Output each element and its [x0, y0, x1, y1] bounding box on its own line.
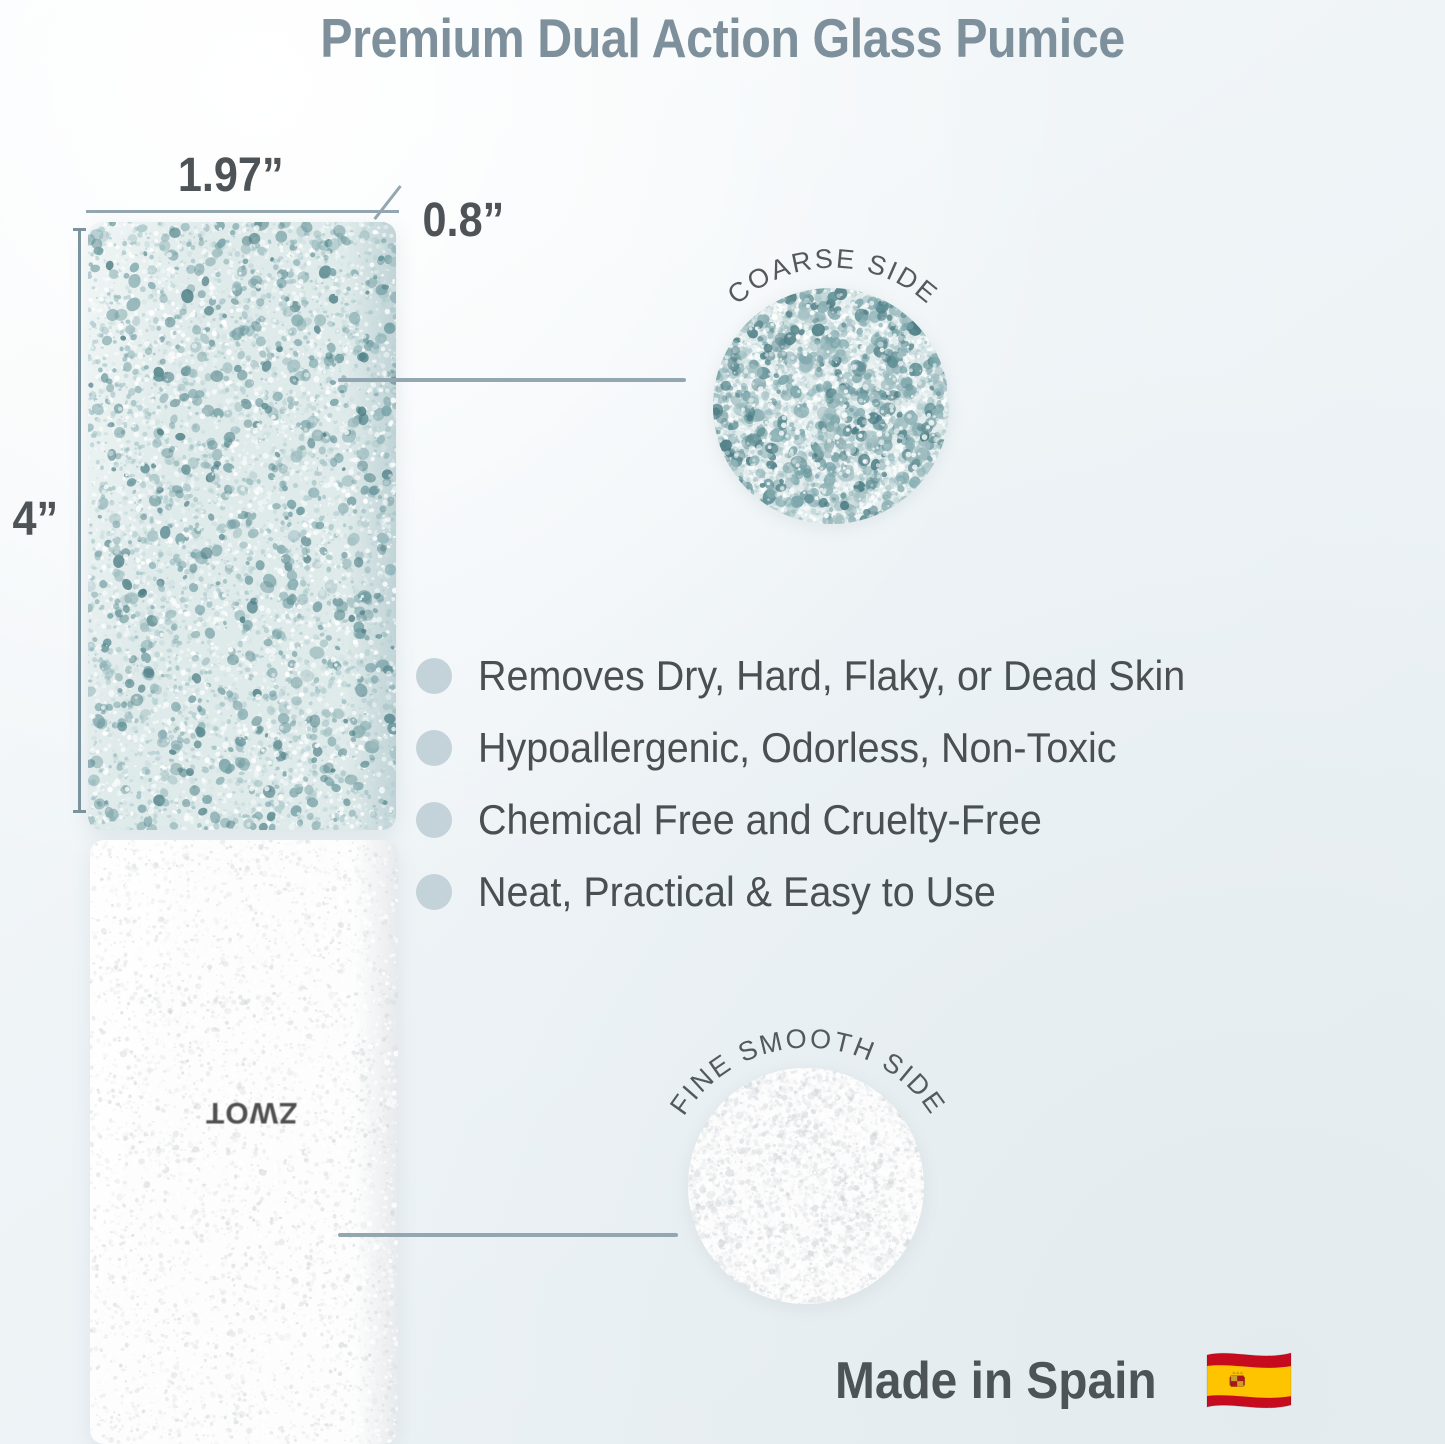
list-item: Neat, Practical & Easy to Use — [416, 856, 1316, 928]
fine-side-label: FINE SMOOTH SIDE — [660, 1012, 956, 1148]
product-infographic: Premium Dual Action Glass Pumice 1.97” 0… — [0, 0, 1445, 1444]
fine-side-label-text: FINE SMOOTH SIDE — [664, 1023, 952, 1120]
fine-texture — [90, 840, 398, 1444]
coarse-leader-line — [338, 378, 686, 382]
list-item: Removes Dry, Hard, Flaky, or Dead Skin — [416, 640, 1316, 712]
bullet-icon — [416, 802, 452, 838]
made-in-badge: Made in Spain — [835, 1345, 1297, 1417]
coarse-side-label: COARSE SIDE — [688, 236, 978, 366]
page-title: Premium Dual Action Glass Pumice — [87, 6, 1359, 70]
depth-dimension-label: 0.8” — [423, 193, 505, 248]
feature-label: Hypoallergenic, Odorless, Non-Toxic — [478, 724, 1117, 772]
width-dimension-line — [86, 210, 399, 213]
list-item: Chemical Free and Cruelty-Free — [416, 784, 1316, 856]
bullet-icon — [416, 730, 452, 766]
feature-list: Removes Dry, Hard, Flaky, or Dead Skin H… — [416, 640, 1316, 928]
coarse-pumice-block — [88, 222, 396, 830]
fine-pumice-block — [90, 840, 398, 1444]
height-dimension-label: 4” — [13, 492, 59, 547]
coarse-side-label-text: COARSE SIDE — [722, 243, 944, 310]
bullet-icon — [416, 658, 452, 694]
list-item: Hypoallergenic, Odorless, Non-Toxic — [416, 712, 1316, 784]
coarse-texture — [88, 222, 396, 830]
fine-leader-line — [338, 1233, 678, 1237]
brand-imprint: ZWOT — [205, 1095, 297, 1129]
feature-label: Removes Dry, Hard, Flaky, or Dead Skin — [478, 652, 1185, 700]
feature-label: Chemical Free and Cruelty-Free — [478, 796, 1042, 844]
width-dimension-label: 1.97” — [178, 148, 284, 203]
made-in-label: Made in Spain — [835, 1351, 1157, 1411]
depth-dimension-tick — [373, 185, 401, 220]
bullet-icon — [416, 874, 452, 910]
spain-flag-icon — [1201, 1345, 1297, 1417]
height-dimension-line — [78, 228, 81, 813]
feature-label: Neat, Practical & Easy to Use — [478, 868, 996, 916]
